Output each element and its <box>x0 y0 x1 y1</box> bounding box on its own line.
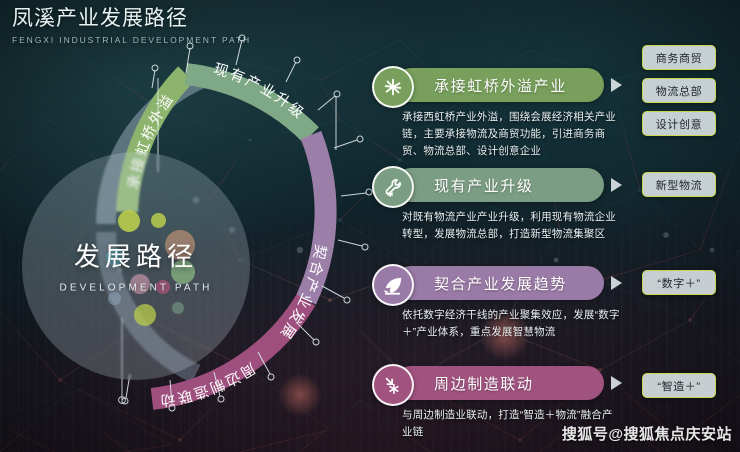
tag-business-trade[interactable]: 商务商贸 <box>642 45 716 70</box>
card-header: 现有产业升级 <box>372 168 622 202</box>
inward-arrow-icon <box>372 364 414 406</box>
path-card-2[interactable]: 现有产业升级 对既有物流产业产业升级，利用现有物流企业转型，发展物流总部，打造新… <box>372 168 622 243</box>
play-triangle-icon <box>611 276 622 290</box>
tag-design-creative[interactable]: 设计创意 <box>642 111 716 136</box>
play-triangle-icon <box>611 178 622 192</box>
hub-dot <box>151 213 166 228</box>
tag-logistics-hq[interactable]: 物流总部 <box>642 78 716 103</box>
card-header: 承接虹桥外溢产业 <box>372 68 622 102</box>
card-title: 周边制造联动 <box>434 373 534 394</box>
tag-digital-plus[interactable]: “数字＋” <box>642 270 716 295</box>
burst-icon <box>372 66 414 108</box>
hub-text-block: 发展路径 DEVELOPMENT PATH <box>22 236 250 293</box>
path-card-1[interactable]: 承接虹桥外溢产业 承接西虹桥产业外溢， <box>372 68 622 160</box>
infographic-canvas: 凤溪产业发展路径 FENGXI INDUSTRIAL DEVELOPMENT P… <box>0 0 740 452</box>
card-description: 承接西虹桥产业外溢，围绕会展经济相关产业链，主要承接物流及商贸功能，引进商务商贸… <box>402 109 622 160</box>
card-header: 契合产业发展趋势 <box>372 266 622 300</box>
card-title: 契合产业发展趋势 <box>434 273 567 294</box>
card-title-pill[interactable]: 承接虹桥外溢产业 <box>394 68 604 102</box>
watermark: 搜狐号@搜狐焦点庆安站 <box>562 423 732 444</box>
play-triangle-icon <box>611 376 622 390</box>
hub-title-cn: 发展路径 <box>22 236 250 273</box>
card-title-pill[interactable]: 契合产业发展趋势 <box>394 266 604 300</box>
card-title: 现有产业升级 <box>434 175 534 196</box>
tag-new-logistics[interactable]: 新型物流 <box>642 172 716 197</box>
path-card-3[interactable]: 契合产业发展趋势 依托数字经济干线的产业聚集效应，发展“数字＋”产业体系，重点发… <box>372 266 622 341</box>
wrench-icon <box>372 166 414 208</box>
card-title-pill[interactable]: 现有产业升级 <box>394 168 604 202</box>
card-title-pill[interactable]: 周边制造联动 <box>394 366 604 400</box>
hub-dot <box>134 304 156 326</box>
hub-dot <box>118 210 140 232</box>
rocket-icon <box>372 264 414 306</box>
card-description: 依托数字经济干线的产业聚集效应，发展“数字＋”产业体系，重点发展智慧物流 <box>402 307 622 341</box>
tag-smart-manufacturing-plus[interactable]: “智造＋” <box>642 373 716 398</box>
arc-label-3: 契合产业发展 <box>276 243 329 343</box>
play-triangle-icon <box>611 78 622 92</box>
card-header: 周边制造联动 <box>372 366 622 400</box>
card-description: 对既有物流产业产业升级，利用现有物流企业转型，发展物流总部，打造新型物流集聚区 <box>402 209 622 243</box>
card-title: 承接虹桥外溢产业 <box>434 75 567 96</box>
hub-dot <box>172 302 184 314</box>
hub-title-en: DEVELOPMENT PATH <box>22 282 250 293</box>
hub-dot <box>108 292 121 305</box>
center-hub: 发展路径 DEVELOPMENT PATH <box>22 152 250 380</box>
